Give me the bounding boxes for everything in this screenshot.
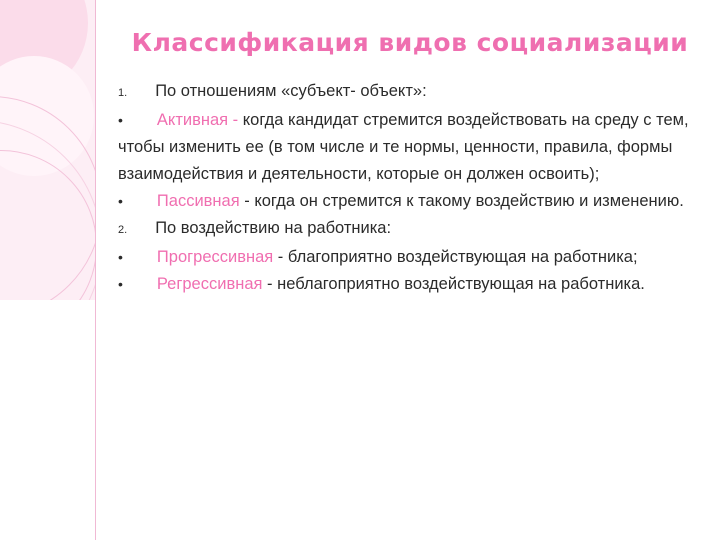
bullet-marker-6: • xyxy=(118,276,123,292)
list-item: •Прогрессивная - благоприятно воздейству… xyxy=(118,244,710,271)
bullet-marker-2: • xyxy=(118,112,123,128)
list-text-1: По отношениям «субъект- объект»: xyxy=(155,82,426,100)
list-marker-4: 2. xyxy=(118,224,127,236)
decorative-vertical-line-lower xyxy=(95,300,96,540)
list-item: •Регрессивная - неблагоприятно воздейств… xyxy=(118,271,710,298)
highlight-regressivnaya: Регрессивная xyxy=(157,275,263,293)
slide: Классификация видов социализации 1.По от… xyxy=(0,0,720,540)
list-item: •Активная - когда кандидат стремится воз… xyxy=(118,107,710,188)
list-item: •Пассивная - когда он стремится к такому… xyxy=(118,188,710,215)
list-item: 2.По воздействию на работника: xyxy=(118,215,710,244)
list-text-5: - благоприятно воздействующая на работни… xyxy=(278,248,638,266)
list-marker-1: 1. xyxy=(118,87,127,99)
list-text-3: - когда он стремится к такому воздействи… xyxy=(244,192,684,210)
slide-body: 1.По отношениям «субъект- объект»: •Акти… xyxy=(118,78,710,298)
list-text-4: По воздействию на работника: xyxy=(155,219,391,237)
highlight-passivnaya: Пассивная xyxy=(157,192,240,210)
bullet-marker-3: • xyxy=(118,193,123,209)
highlight-progressivnaya: Прогрессивная xyxy=(157,248,273,266)
bullet-marker-5: • xyxy=(118,249,123,265)
list-text-6: - неблагоприятно воздействующая на работ… xyxy=(267,275,645,293)
decorative-band-lower xyxy=(0,300,96,540)
highlight-aktivnaya: Активная - xyxy=(157,111,238,129)
list-item: 1.По отношениям «субъект- объект»: xyxy=(118,78,710,107)
slide-title: Классификация видов социализации xyxy=(112,28,708,57)
